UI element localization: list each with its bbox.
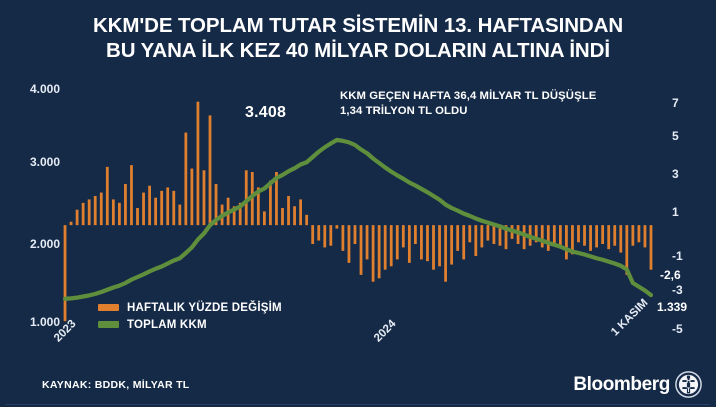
chart-page: KKM'DE TOPLAM TUTAR SİSTEMİN 13. HAFTASI… [0, 0, 716, 407]
bar [559, 225, 562, 247]
bar [166, 187, 169, 225]
bar [172, 191, 175, 225]
bar [106, 167, 109, 225]
bar [342, 225, 345, 251]
bar [474, 225, 477, 256]
bar [577, 225, 580, 242]
bar [408, 225, 411, 263]
y-left-tick-4000: 4.000 [8, 82, 60, 96]
bar [493, 225, 496, 244]
bar [299, 199, 302, 225]
bar [317, 225, 320, 240]
bar [601, 225, 604, 244]
legend-item-line: TOPLAM KKM [98, 317, 282, 332]
bar [160, 191, 163, 225]
bar [100, 193, 103, 226]
bar [197, 102, 200, 225]
bar [462, 225, 465, 259]
bar [88, 199, 91, 225]
legend-label-line: TOPLAM KKM [127, 319, 207, 331]
bar [124, 184, 127, 225]
habarturk-logo-icon: H T [675, 371, 702, 398]
svg-text:H: H [686, 378, 691, 385]
y-right-tick-m1: -1 [672, 249, 712, 263]
bar [70, 222, 73, 225]
bar [178, 205, 181, 226]
bar [432, 225, 435, 270]
chart-legend: HAFTALIK YÜZDE DEĞİŞİM TOPLAM KKM [98, 300, 282, 334]
line-series [65, 140, 651, 299]
y-right-tick-3: 3 [672, 167, 712, 181]
bar [94, 196, 97, 225]
bar [287, 196, 290, 225]
bar [583, 225, 586, 246]
bar [335, 225, 338, 228]
title-line-1: KKM'DE TOPLAM TUTAR SİSTEMİN 13. HAFTASI… [22, 13, 694, 38]
bar [82, 203, 85, 225]
bar [154, 198, 157, 225]
bar [631, 225, 634, 246]
bar [118, 203, 121, 225]
bar [638, 225, 641, 242]
bar [426, 225, 429, 261]
y-left-tick-2000: 2.000 [8, 237, 60, 251]
bar [269, 181, 272, 226]
callout-pct-last: -2,6 [660, 268, 681, 282]
bar [384, 225, 387, 270]
legend-label-bar: HAFTALIK YÜZDE DEĞİŞİM [127, 302, 282, 314]
bar [305, 215, 308, 225]
y-right-tick-1: 1 [672, 205, 712, 219]
y-left-tick-3000: 3.000 [8, 155, 60, 169]
bar [360, 225, 363, 275]
bar [372, 225, 375, 282]
bar [329, 225, 332, 246]
bar [414, 225, 417, 244]
bar [438, 225, 441, 266]
bar [613, 225, 616, 246]
bar [281, 208, 284, 225]
bar [348, 225, 351, 263]
bar [396, 225, 399, 259]
bar [148, 186, 151, 225]
y-right-tick-7: 7 [672, 96, 712, 110]
bar [142, 193, 145, 226]
bar [444, 225, 447, 282]
bar [420, 225, 423, 259]
bar [565, 225, 568, 259]
bar [619, 225, 622, 252]
bar [76, 210, 79, 225]
chart-svg [62, 88, 654, 328]
y-right-tick-m5: -5 [672, 322, 712, 336]
footer-divider [6, 404, 710, 405]
bar [480, 225, 483, 247]
bar [130, 165, 133, 225]
legend-swatch-bar [98, 304, 119, 311]
bar [402, 225, 405, 247]
bar [184, 133, 187, 226]
brand-lockup: Bloomberg H T [573, 371, 702, 398]
page-title: KKM'DE TOPLAM TUTAR SİSTEMİN 13. HAFTASI… [0, 13, 716, 63]
bar [366, 225, 369, 259]
bar [644, 225, 647, 247]
bar [456, 225, 459, 251]
bar [390, 225, 393, 266]
bar [263, 211, 266, 225]
svg-text:T: T [687, 387, 691, 394]
bar [136, 208, 139, 225]
bar-series [64, 102, 653, 321]
y-right-tick-5: 5 [672, 129, 712, 143]
bar [209, 115, 212, 225]
source-note: KAYNAK: BDDK, MİLYAR TL [42, 379, 190, 391]
plot-area [62, 88, 654, 328]
legend-item-bar: HAFTALIK YÜZDE DEĞİŞİM [98, 300, 282, 315]
bar [64, 225, 67, 321]
bloomberg-wordmark: Bloomberg [573, 374, 670, 396]
bar [190, 169, 193, 226]
y-left-tick-1000: 1.000 [8, 315, 60, 329]
bar [553, 225, 556, 244]
bar [607, 225, 610, 249]
bar [595, 225, 598, 247]
bar [323, 225, 326, 247]
y-right-tick-m3: -3 [672, 283, 712, 297]
bar [450, 225, 453, 264]
bar [293, 206, 296, 225]
bar [541, 225, 544, 247]
legend-swatch-line [98, 321, 119, 328]
bar [378, 225, 381, 278]
bar [112, 199, 115, 225]
bar [203, 170, 206, 225]
bar [589, 225, 592, 251]
bar [650, 225, 653, 270]
bar [311, 225, 314, 244]
bar [547, 225, 550, 251]
bar [468, 225, 471, 242]
bar [354, 225, 357, 244]
title-line-2: BU YANA İLK KEZ 40 MİLYAR DOLARIN ALTINA… [22, 38, 694, 63]
callout-total-last: 1.339 [657, 300, 687, 314]
bar [486, 225, 489, 240]
